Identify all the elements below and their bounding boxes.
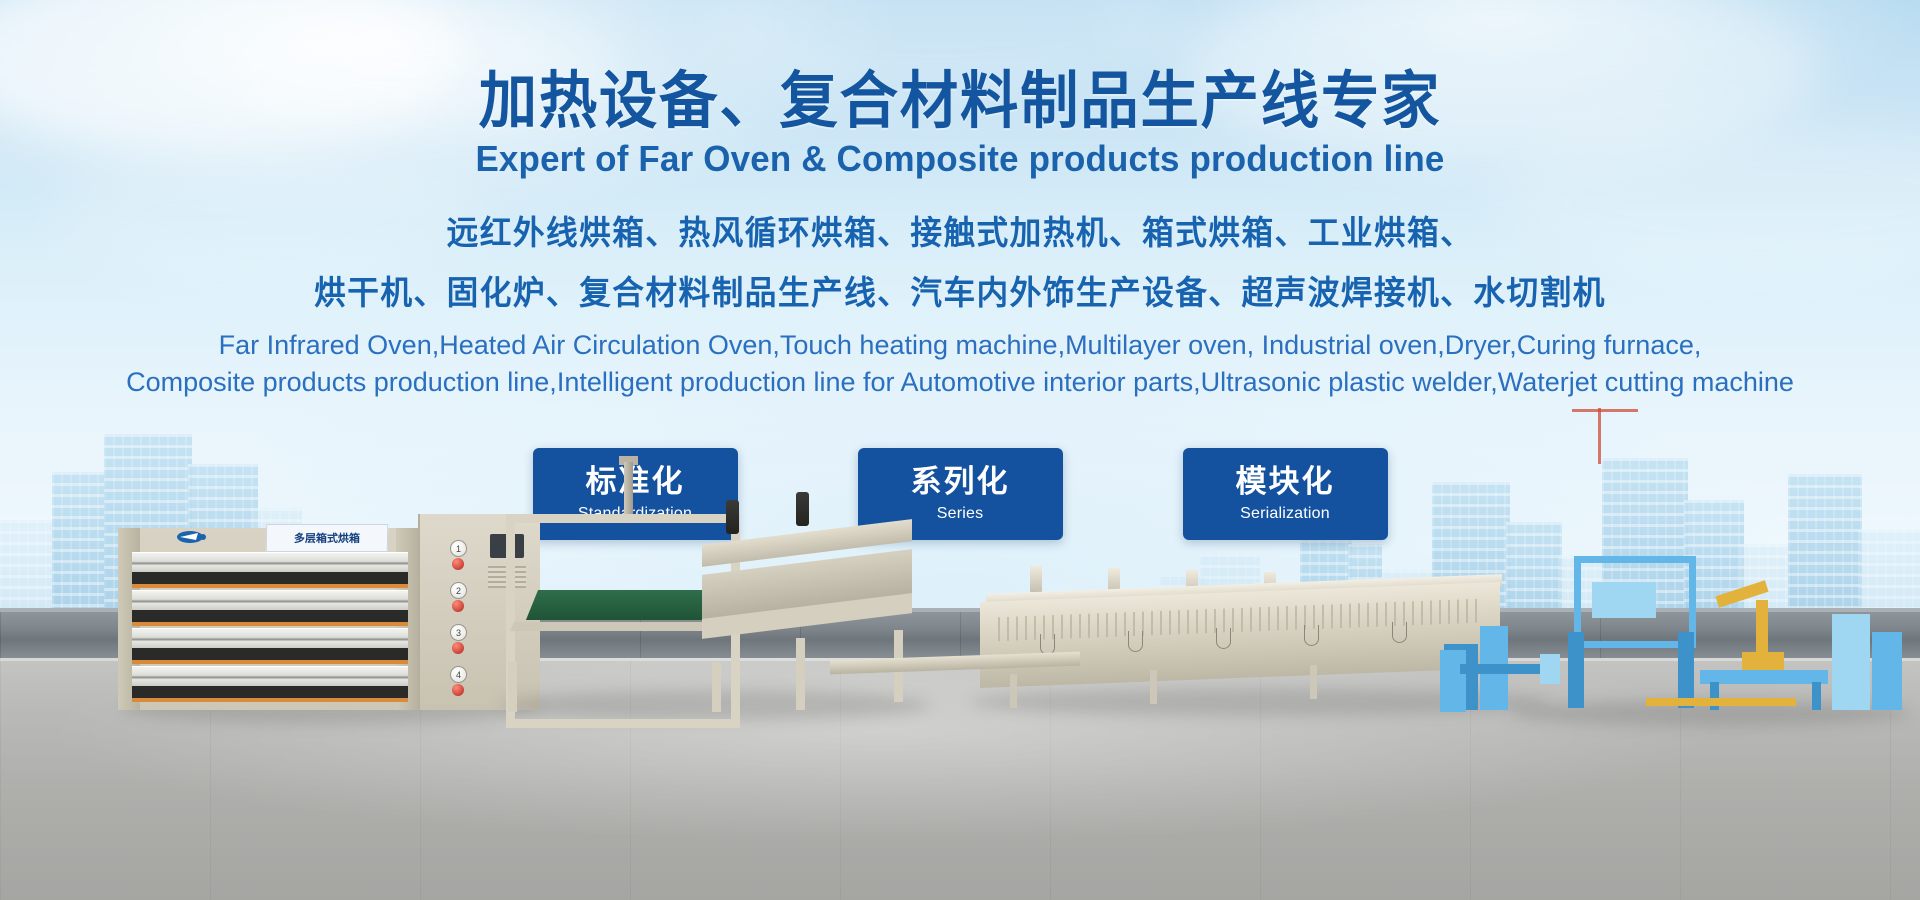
oven-leg bbox=[1010, 674, 1017, 708]
conveyor-rail bbox=[510, 622, 728, 631]
construction-crane-icon bbox=[1572, 409, 1638, 412]
products-cn-line-1: 远红外线烘箱、热风循环烘箱、接触式加热机、箱式烘箱、工业烘箱、 bbox=[38, 206, 1881, 254]
badge-label-en: Serialization bbox=[1240, 505, 1330, 523]
frame-leg bbox=[712, 662, 721, 712]
page-title: 加热设备、复合材料制品生产线专家 bbox=[58, 68, 1863, 134]
machine-nameplate: 多层箱式烘箱 bbox=[266, 524, 388, 552]
page-subtitle-en: Expert of Far Oven & Composite products … bbox=[29, 138, 1891, 180]
oven-door-handle-icon bbox=[1392, 622, 1407, 643]
panel-button-4[interactable]: 4 bbox=[450, 666, 467, 683]
exhaust-stack-icon bbox=[1030, 566, 1042, 592]
feeder-body bbox=[1440, 650, 1466, 712]
conveyor-leg bbox=[1812, 682, 1821, 710]
yellow-rail-icon bbox=[1646, 698, 1796, 706]
gantry-leg bbox=[1678, 632, 1694, 708]
panel-button-1[interactable]: 1 bbox=[450, 540, 467, 557]
side-cabinet bbox=[1872, 632, 1902, 710]
gantry-leg bbox=[1568, 632, 1584, 708]
frame-leg bbox=[796, 638, 805, 710]
conveyor-unit bbox=[1700, 670, 1828, 684]
yellow-robot-arm-icon bbox=[1756, 600, 1768, 654]
heated-press-stack bbox=[702, 506, 912, 628]
badge-serialization[interactable]: 模块化 Serialization bbox=[1183, 448, 1388, 540]
panel-led-3 bbox=[452, 642, 464, 654]
badge-label-cn: 模块化 bbox=[1236, 465, 1335, 499]
green-conveyor-belt bbox=[526, 590, 730, 620]
oven-leg bbox=[1310, 665, 1317, 699]
oven-leg bbox=[1150, 670, 1157, 704]
oven-door-handle-icon bbox=[1128, 631, 1143, 652]
headline-block: 加热设备、复合材料制品生产线专家 Expert of Far Oven & Co… bbox=[0, 0, 1920, 398]
hydraulic-cylinder-icon bbox=[726, 500, 739, 534]
machine-waterjet-cluster bbox=[1520, 548, 1920, 728]
products-en-line-2: Composite products production line,Intel… bbox=[0, 367, 1920, 398]
products-en-line-1: Far Infrared Oven,Heated Air Circulation… bbox=[0, 330, 1920, 361]
side-cabinet bbox=[1832, 614, 1870, 710]
panel-button-3[interactable]: 3 bbox=[450, 624, 467, 641]
frame-leg bbox=[508, 662, 517, 712]
oven-door-handle-icon bbox=[1304, 625, 1319, 646]
hydraulic-cylinder-icon bbox=[796, 492, 809, 526]
machine-blue-feeder bbox=[1440, 620, 1560, 712]
feeder-arm bbox=[1460, 664, 1552, 674]
banner-stage: 加热设备、复合材料制品生产线专家 Expert of Far Oven & Co… bbox=[0, 0, 1920, 900]
oven-door-handle-icon bbox=[1216, 628, 1231, 649]
panel-button-2[interactable]: 2 bbox=[450, 582, 467, 599]
panel-led-4 bbox=[452, 684, 464, 696]
feeder-head bbox=[1540, 654, 1560, 684]
badge-label-cn: 系列化 bbox=[911, 465, 1010, 499]
machine-multilayer-oven: 多层箱式烘箱 1 2 3 4 bbox=[118, 510, 538, 710]
panel-led-1 bbox=[452, 558, 464, 570]
badge-label-en: Series bbox=[937, 505, 984, 523]
vertical-mast bbox=[624, 462, 633, 522]
panel-led-2 bbox=[452, 600, 464, 612]
yellow-robot-base-icon bbox=[1742, 652, 1784, 670]
products-cn-line-2: 烘干机、固化炉、复合材料制品生产线、汽车内外饰生产设备、超声波焊接机、水切割机 bbox=[38, 266, 1881, 314]
brand-logo-icon bbox=[176, 530, 218, 546]
control-panel[interactable] bbox=[1592, 582, 1656, 618]
machine-composite-press-line bbox=[496, 462, 916, 712]
